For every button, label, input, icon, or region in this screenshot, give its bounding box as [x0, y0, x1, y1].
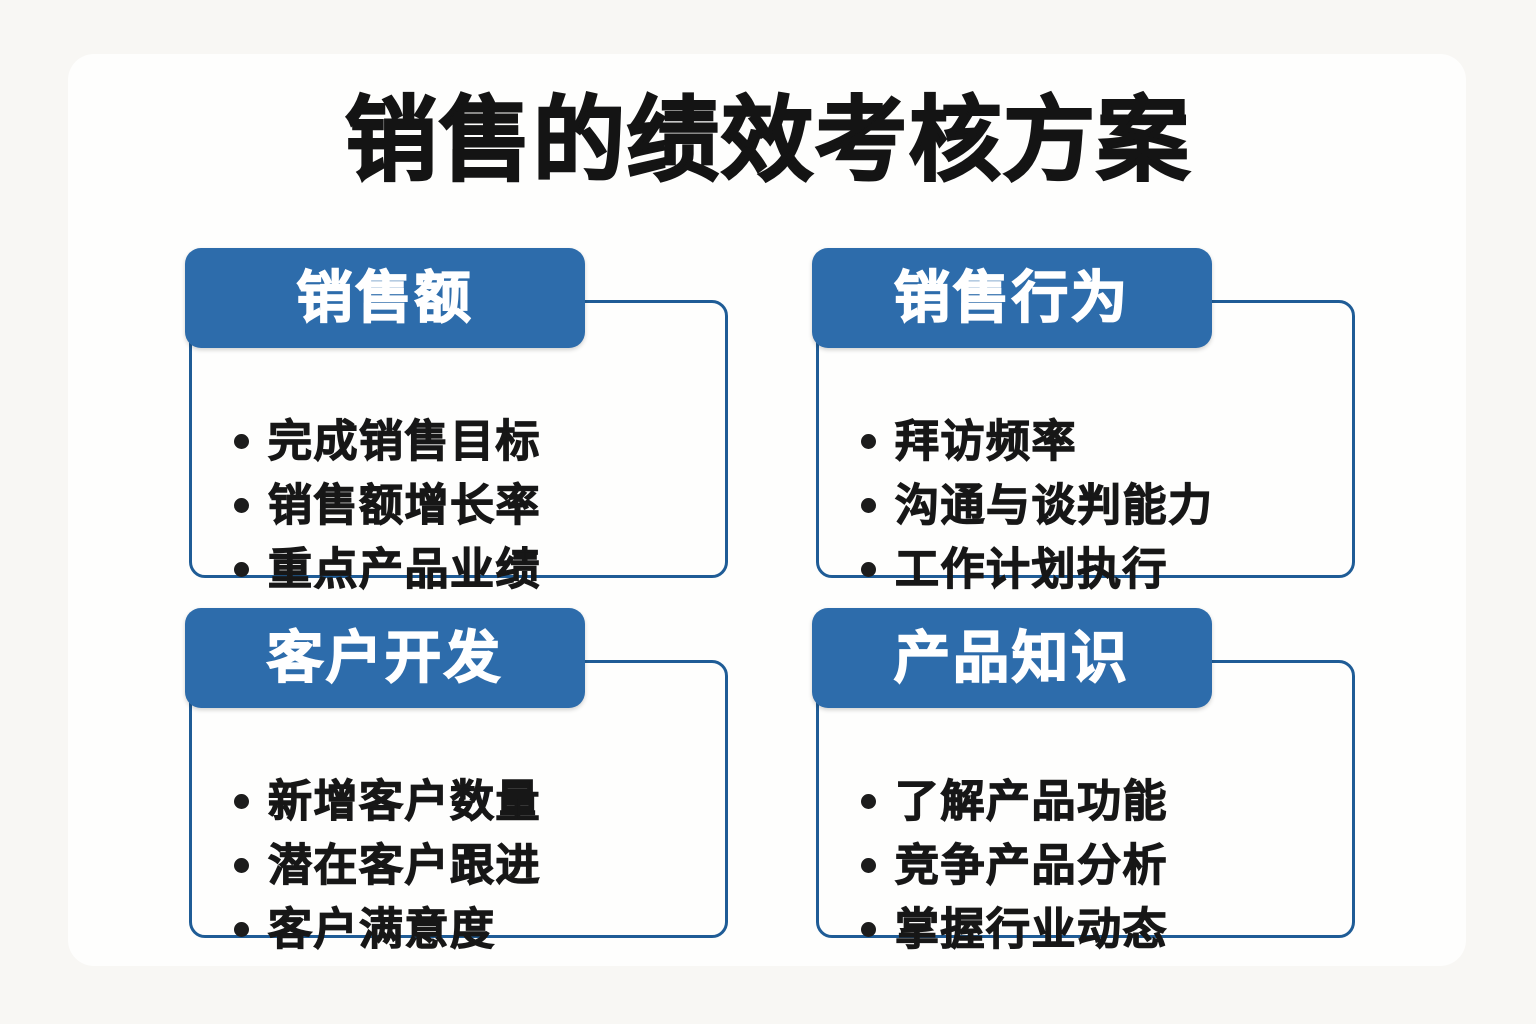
bullet-icon: [234, 562, 249, 577]
list-item[interactable]: 潜在客户跟进: [234, 839, 541, 892]
card-grid: 完成销售目标 销售额增长率 重点产品业绩 销售额: [0, 0, 1536, 1024]
bullet-icon: [234, 922, 249, 937]
card-sales-amount[interactable]: 完成销售目标 销售额增长率 重点产品业绩 销售额: [185, 248, 730, 578]
card-sales-behavior[interactable]: 拜访频率 沟通与谈判能力 工作计划执行 销售行为: [812, 248, 1357, 578]
bullet-icon: [234, 794, 249, 809]
bullet-icon: [234, 498, 249, 513]
card-customer-development[interactable]: 新增客户数量 潜在客户跟进 客户满意度 客户开发: [185, 608, 730, 938]
list-item[interactable]: 掌握行业动态: [861, 903, 1168, 956]
list-item[interactable]: 竞争产品分析: [861, 839, 1168, 892]
bullet-icon: [861, 858, 876, 873]
card-header-label: 销售行为: [894, 268, 1130, 328]
list-item[interactable]: 销售额增长率: [234, 479, 541, 532]
card-header-tab[interactable]: 客户开发: [185, 608, 585, 708]
bullet-icon: [861, 498, 876, 513]
list-item-label: 潜在客户跟进: [268, 839, 541, 892]
bullet-icon: [861, 562, 876, 577]
card-header-tab[interactable]: 销售额: [185, 248, 585, 348]
list-item-label: 完成销售目标: [268, 415, 541, 468]
list-item-label: 拜访频率: [895, 415, 1077, 468]
list-item-label: 掌握行业动态: [895, 903, 1168, 956]
list-item[interactable]: 沟通与谈判能力: [861, 479, 1214, 532]
list-item[interactable]: 新增客户数量: [234, 775, 541, 828]
list-item[interactable]: 拜访频率: [861, 415, 1214, 468]
card-header-label: 产品知识: [894, 628, 1130, 688]
card-header-tab[interactable]: 销售行为: [812, 248, 1212, 348]
list-item-label: 竞争产品分析: [895, 839, 1168, 892]
list-item-label: 新增客户数量: [268, 775, 541, 828]
bullet-icon: [861, 794, 876, 809]
bullet-icon: [861, 434, 876, 449]
list-item-label: 销售额增长率: [268, 479, 541, 532]
bullet-icon: [234, 434, 249, 449]
list-item[interactable]: 客户满意度: [234, 903, 541, 956]
list-item-label: 工作计划执行: [895, 543, 1168, 596]
bullet-icon: [234, 858, 249, 873]
list-item-label: 沟通与谈判能力: [895, 479, 1214, 532]
card-item-list: 了解产品功能 竞争产品分析 掌握行业动态: [861, 775, 1168, 956]
list-item[interactable]: 了解产品功能: [861, 775, 1168, 828]
card-header-tab[interactable]: 产品知识: [812, 608, 1212, 708]
bullet-icon: [861, 922, 876, 937]
infographic-poster: 销售的绩效考核方案 完成销售目标 销售额增长率 重点产品业绩: [0, 0, 1536, 1024]
list-item[interactable]: 工作计划执行: [861, 543, 1214, 596]
list-item[interactable]: 完成销售目标: [234, 415, 541, 468]
card-header-label: 销售额: [297, 268, 474, 328]
list-item-label: 了解产品功能: [895, 775, 1168, 828]
card-item-list: 拜访频率 沟通与谈判能力 工作计划执行: [861, 415, 1214, 596]
card-item-list: 新增客户数量 潜在客户跟进 客户满意度: [234, 775, 541, 956]
card-header-label: 客户开发: [267, 628, 503, 688]
list-item-label: 重点产品业绩: [268, 543, 541, 596]
list-item[interactable]: 重点产品业绩: [234, 543, 541, 596]
card-product-knowledge[interactable]: 了解产品功能 竞争产品分析 掌握行业动态 产品知识: [812, 608, 1357, 938]
list-item-label: 客户满意度: [268, 903, 496, 956]
card-item-list: 完成销售目标 销售额增长率 重点产品业绩: [234, 415, 541, 596]
